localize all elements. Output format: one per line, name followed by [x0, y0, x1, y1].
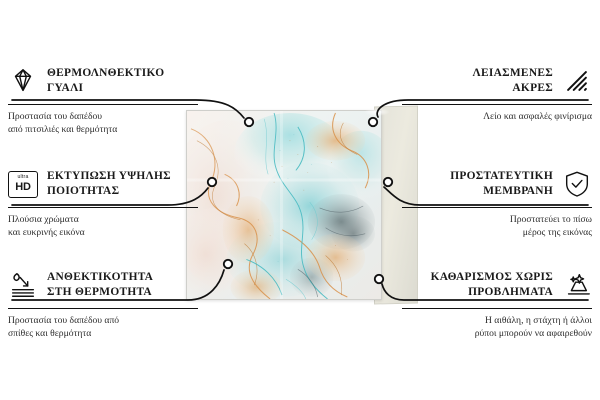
feature-description: Προστασία του δαπέδου από πιτσιλιές και … — [8, 110, 198, 136]
feature-easy-cleaning[interactable]: ΚΑΘΑΡΙΣΜΟΣ ΧΩΡΙΣ ΠΡΟΒΛΗΜΑΤΑ Η αιθάλη, η … — [402, 266, 592, 340]
divider — [8, 308, 198, 309]
feature-head: ΠΡΟΣΤΑΤΕΥΤΙΚΗ ΜΕΜΒΡΑΝΗ — [402, 165, 592, 203]
feature-description: Λείο και ασφαλές φινίρισμα — [402, 110, 592, 123]
feature-description: Πλούσια χρώματα και ευκρινής εικόνα — [8, 213, 198, 239]
shield-check-icon — [562, 169, 592, 199]
glass-panel-front — [186, 110, 382, 300]
feature-description: Προστατεύει το πίσω μέρος της εικόνας — [402, 213, 592, 239]
ultra-hd-icon: ultra HD — [8, 171, 38, 198]
polished-edges-icon — [562, 66, 592, 96]
ultra-hd-large-label: HD — [15, 182, 31, 193]
feature-head: ultra HD ΕΚΤΥΠΩΣΗ ΥΨΗΛΗΣ ΠΟΙΟΤΗΤΑΣ — [8, 165, 198, 203]
feature-title: ΑΝΘΕΚΤΙΚΟΤΗΤΑ ΣΤΗ ΘΕΡΜΟΤΗΤΑ — [47, 270, 153, 300]
feature-head: ΛΕΙΑΣΜΕΝΕΣ ΑΚΡΕΣ — [402, 62, 592, 100]
feature-description: Η αιθάλη, η στάχτη ή άλλοι ρύποι μπορούν… — [402, 314, 592, 340]
feature-head: ΘΕΡΜΟΛΝΘΕΚΤΙΚΟ ΓΥΑΛΙ — [8, 62, 198, 100]
feature-description: Προστασία του δαπέδου από σπίθες και θερ… — [8, 314, 198, 340]
feature-heat-resistant-glass[interactable]: ΘΕΡΜΟΛΝΘΕΚΤΙΚΟ ΓΥΑΛΙ Προστασία του δαπέδ… — [8, 62, 198, 136]
divider — [402, 104, 592, 105]
feature-head: ΚΑΘΑΡΙΣΜΟΣ ΧΩΡΙΣ ΠΡΟΒΛΗΜΑΤΑ — [402, 266, 592, 304]
feature-head: ΑΝΘΕΚΤΙΚΟΤΗΤΑ ΣΤΗ ΘΕΡΜΟΤΗΤΑ — [8, 266, 198, 304]
feature-polished-edges[interactable]: ΛΕΙΑΣΜΕΝΕΣ ΑΚΡΕΣ Λείο και ασφαλές φινίρι… — [402, 62, 592, 123]
divider — [402, 207, 592, 208]
heat-resistance-icon — [8, 270, 38, 300]
ultra-hd-small-label: ultra — [17, 175, 28, 180]
feature-title: ΠΡΟΣΤΑΤΕΥΤΙΚΗ ΜΕΜΒΡΑΝΗ — [450, 169, 553, 199]
feature-title: ΛΕΙΑΣΜΕΝΕΣ ΑΚΡΕΣ — [473, 66, 554, 96]
feature-title: ΚΑΘΑΡΙΣΜΟΣ ΧΩΡΙΣ ΠΡΟΒΛΗΜΑΤΑ — [431, 270, 553, 300]
divider — [8, 104, 198, 105]
feature-heat-resistance[interactable]: ΑΝΘΕΚΤΙΚΟΤΗΤΑ ΣΤΗ ΘΕΡΜΟΤΗΤΑ Προστασία το… — [8, 266, 198, 340]
feature-title: ΘΕΡΜΟΛΝΘΕΚΤΙΚΟ ΓΥΑΛΙ — [47, 66, 164, 96]
feature-protective-membrane[interactable]: ΠΡΟΣΤΑΤΕΥΤΙΚΗ ΜΕΜΒΡΑΝΗ Προστατεύει το πί… — [402, 165, 592, 239]
easy-clean-sparkle-icon — [562, 270, 592, 300]
marble-ink-artwork — [187, 111, 381, 299]
divider — [402, 308, 592, 309]
feature-title: ΕΚΤΥΠΩΣΗ ΥΨΗΛΗΣ ΠΟΙΟΤΗΤΑΣ — [47, 169, 171, 199]
product-image — [186, 110, 414, 300]
feature-high-quality-print[interactable]: ultra HD ΕΚΤΥΠΩΣΗ ΥΨΗΛΗΣ ΠΟΙΟΤΗΤΑΣ Πλούσ… — [8, 165, 198, 239]
glass-highlight — [364, 108, 390, 116]
diamond-icon — [8, 66, 38, 96]
divider — [8, 207, 198, 208]
